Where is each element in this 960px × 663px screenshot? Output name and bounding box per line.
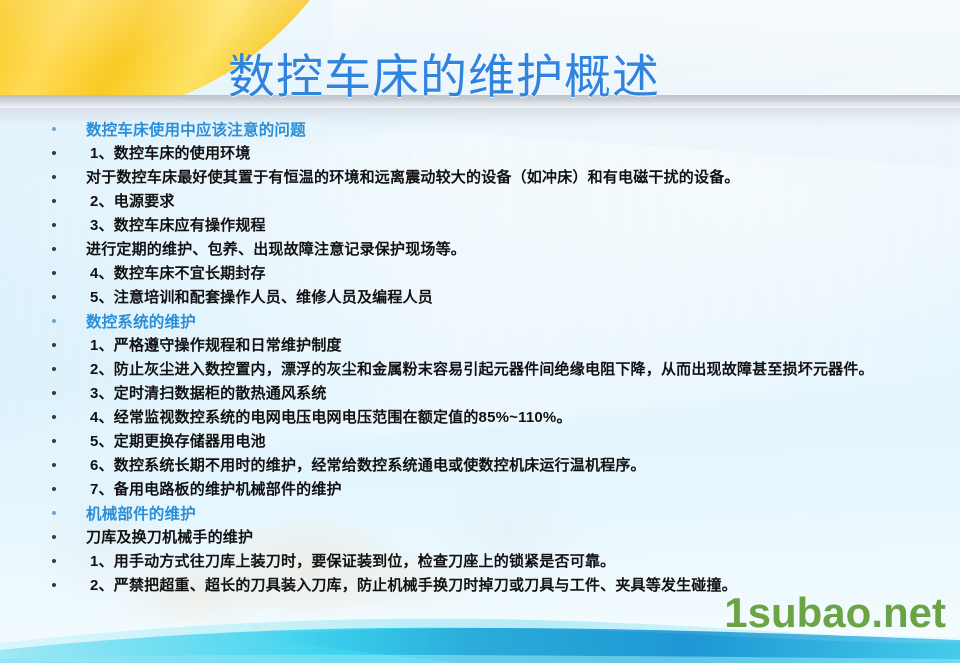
content-bullet-line: 1、数控车床的使用环境 <box>0 142 960 166</box>
bullet-icon <box>52 391 56 395</box>
bullet-icon <box>52 295 56 299</box>
content-bullet-line: 1、用手动方式往刀库上装刀时，要保证装到位，检查刀座上的锁紧是否可靠。 <box>0 550 960 574</box>
bullet-icon <box>52 199 56 203</box>
bullet-icon <box>52 367 56 371</box>
bullet-icon <box>52 415 56 419</box>
bullet-icon <box>52 175 56 179</box>
bullet-icon <box>52 151 56 155</box>
bullet-icon <box>52 271 56 275</box>
content-bullet-line: 3、定时清扫数据柜的散热通风系统 <box>0 382 960 406</box>
bullet-icon <box>52 559 56 563</box>
bullet-icon <box>52 343 56 347</box>
bullet-icon <box>52 535 56 539</box>
content-text: 进行定期的维护、包养、出现故障注意记录保护现场等。 <box>0 238 954 259</box>
content-text: 6、数控系统长期不用时的维护，经常给数控系统通电或使数控机床运行温机程序。 <box>0 454 954 475</box>
content-text: 对于数控车床最好使其置于有恒温的环境和远离震动较大的设备（如冲床）和有电磁干扰的… <box>0 166 954 187</box>
content-text: 7、备用电路板的维护机械部件的维护 <box>0 478 954 499</box>
content-text: 2、防止灰尘进入数控置内，漂浮的灰尘和金属粉末容易引起元器件间绝缘电阻下降，从而… <box>0 358 954 379</box>
content-bullet-line: 4、数控车床不宜长期封存 <box>0 262 960 286</box>
content-bullet-line: 1、严格遵守操作规程和日常维护制度 <box>0 334 960 358</box>
content-bullet-line: 5、注意培训和配套操作人员、维修人员及编程人员 <box>0 286 960 310</box>
content-text: 4、数控车床不宜长期封存 <box>0 262 954 283</box>
content-text: 1、用手动方式往刀库上装刀时，要保证装到位，检查刀座上的锁紧是否可靠。 <box>0 550 954 571</box>
content-bullet-line: 4、经常监视数控系统的电网电压电网电压范围在额定值的85%~110%。 <box>0 406 960 430</box>
bullet-icon <box>52 247 56 251</box>
content-list: 数控车床使用中应该注意的问题1、数控车床的使用环境对于数控车床最好使其置于有恒温… <box>0 118 960 598</box>
bullet-icon <box>52 463 56 467</box>
content-text: 5、定期更换存储器用电池 <box>0 430 954 451</box>
slide-canvas: 数控车床的维护概述 数控车床使用中应该注意的问题1、数控车床的使用环境对于数控车… <box>0 0 960 663</box>
content-bullet-line: 刀库及换刀机械手的维护 <box>0 526 960 550</box>
page-title: 数控车床的维护概述 <box>228 50 660 104</box>
bullet-icon <box>52 319 56 323</box>
bullet-icon <box>52 487 56 491</box>
content-text: 3、定时清扫数据柜的散热通风系统 <box>0 382 954 403</box>
content-bullet-line: 进行定期的维护、包养、出现故障注意记录保护现场等。 <box>0 238 960 262</box>
content-bullet-line: 3、数控车床应有操作规程 <box>0 214 960 238</box>
content-text: 2、电源要求 <box>0 190 954 211</box>
content-text: 1、数控车床的使用环境 <box>0 142 954 163</box>
content-text: 刀库及换刀机械手的维护 <box>0 526 954 547</box>
bullet-icon <box>52 439 56 443</box>
content-heading: 机械部件的维护 <box>0 502 960 526</box>
content-bullet-line: 2、防止灰尘进入数控置内，漂浮的灰尘和金属粉末容易引起元器件间绝缘电阻下降，从而… <box>0 358 960 382</box>
content-text: 数控系统的维护 <box>0 310 954 332</box>
content-heading: 数控车床使用中应该注意的问题 <box>0 118 960 142</box>
content-text: 3、数控车床应有操作规程 <box>0 214 954 235</box>
content-text: 5、注意培训和配套操作人员、维修人员及编程人员 <box>0 286 954 307</box>
content-bullet-line: 2、电源要求 <box>0 190 960 214</box>
watermark: 1subao.net <box>724 589 946 637</box>
content-text: 4、经常监视数控系统的电网电压电网电压范围在额定值的85%~110%。 <box>0 406 954 427</box>
bullet-icon <box>52 583 56 587</box>
content-text: 1、严格遵守操作规程和日常维护制度 <box>0 334 954 355</box>
bullet-icon <box>52 511 56 515</box>
bullet-icon <box>52 223 56 227</box>
content-bullet-line: 7、备用电路板的维护机械部件的维护 <box>0 478 960 502</box>
bullet-icon <box>52 127 56 131</box>
content-heading: 数控系统的维护 <box>0 310 960 334</box>
content-text: 机械部件的维护 <box>0 502 954 524</box>
content-bullet-line: 对于数控车床最好使其置于有恒温的环境和远离震动较大的设备（如冲床）和有电磁干扰的… <box>0 166 960 190</box>
content-text: 数控车床使用中应该注意的问题 <box>0 118 954 140</box>
content-bullet-line: 5、定期更换存储器用电池 <box>0 430 960 454</box>
content-bullet-line: 6、数控系统长期不用时的维护，经常给数控系统通电或使数控机床运行温机程序。 <box>0 454 960 478</box>
